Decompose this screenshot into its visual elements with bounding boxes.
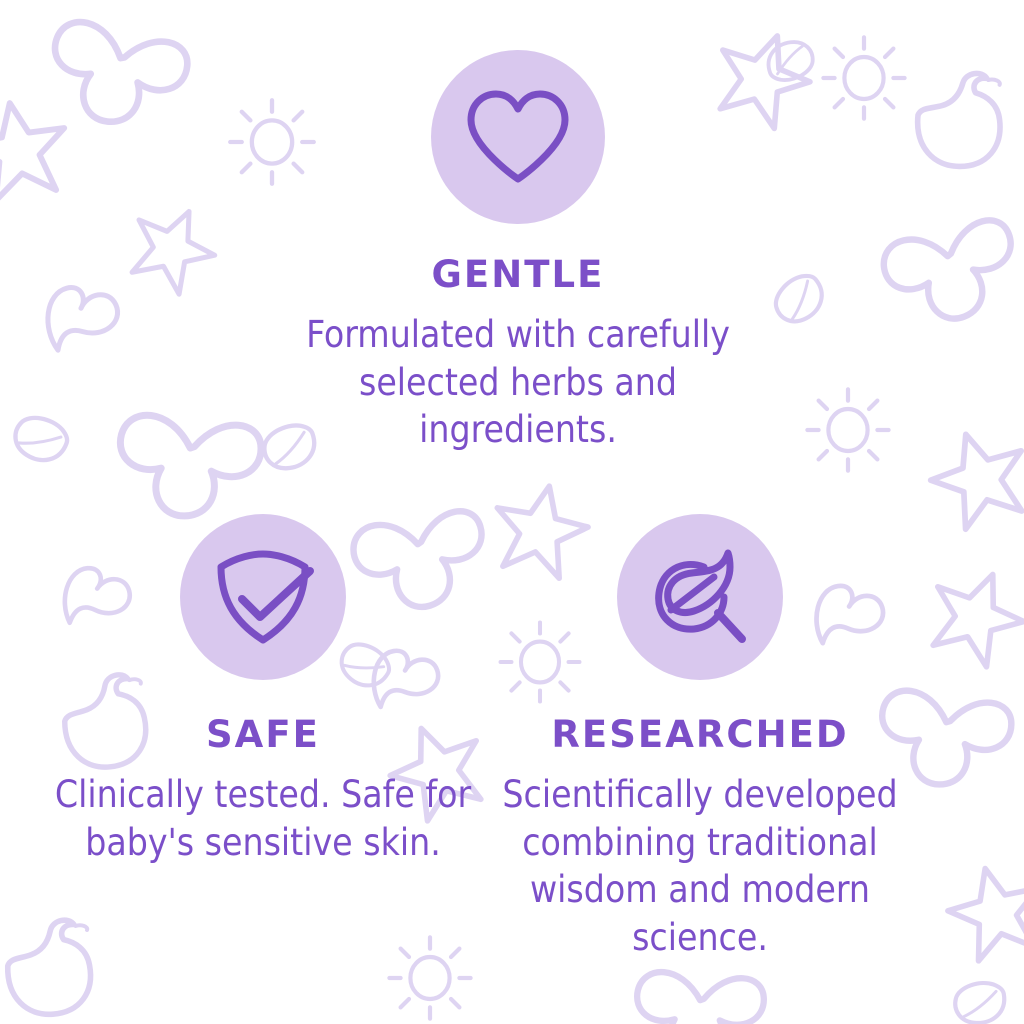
leaf-magnifier-icon [644, 541, 756, 653]
feature-researched-description: Scientifically developed combining tradi… [460, 771, 940, 962]
shield-check-icon [209, 543, 317, 651]
heart-icon [463, 87, 573, 187]
feature-gentle-title: GENTLE [262, 256, 774, 293]
feature-gentle-description: Formulated with carefully selected herbs… [262, 311, 774, 454]
feature-safe-icon-circle [180, 514, 346, 680]
feature-researched-icon-circle [617, 514, 783, 680]
feature-gentle: GENTLE Formulated with carefully selecte… [262, 50, 774, 454]
feature-researched-title: RESEARCHED [460, 716, 940, 753]
feature-safe-description: Clinically tested. Safe for baby's sensi… [23, 771, 503, 866]
product-benefits-infographic: GENTLE Formulated with carefully selecte… [0, 0, 1024, 1024]
feature-safe: SAFE Clinically tested. Safe for baby's … [23, 514, 503, 866]
feature-researched: RESEARCHED Scientifically developed comb… [460, 514, 940, 962]
feature-gentle-icon-circle [431, 50, 605, 224]
feature-safe-title: SAFE [23, 716, 503, 753]
